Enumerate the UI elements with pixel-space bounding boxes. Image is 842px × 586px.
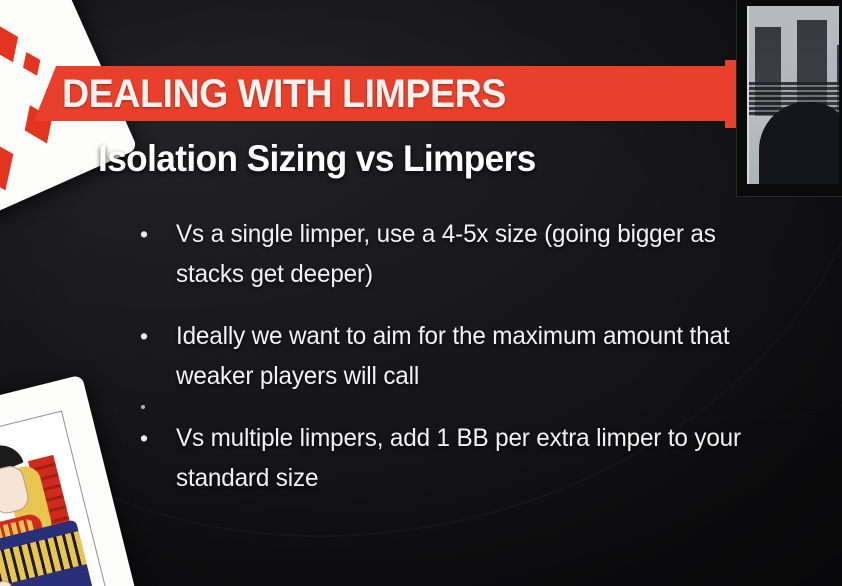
bullet-text: Vs multiple limpers, add 1 BB per extra … [176,418,842,498]
diamond-pip [0,127,26,200]
bullet-point-icon: • [138,316,176,396]
diamond-pip [0,18,27,69]
bullet-list: • Vs a single limper, use a 4-5x size (g… [138,214,842,520]
bullet-point-icon: • [138,418,176,498]
page-title: DEALING WITH LIMPERS [62,70,701,118]
list-item: • Ideally we want to aim for the maximum… [138,316,842,396]
presenter-video-inset[interactable] [737,0,842,196]
slide-subtitle: Isolation Sizing vs Limpers [98,138,536,180]
presentation-slide: J DEALING WITH LIMPERS Isolation Sizing … [0,0,842,586]
list-item: • Vs a single limper, use a 4-5x size (g… [138,214,842,294]
accent-tab [725,60,737,128]
list-item: • Vs multiple limpers, add 1 BB per extr… [138,418,842,498]
bullet-point-icon: • [138,214,176,294]
video-frame [747,6,839,184]
bullet-text: Ideally we want to aim for the maximum a… [176,316,842,396]
diamond-pip [18,48,46,79]
diamond-pip [0,50,2,123]
bullet-text: Vs a single limper, use a 4-5x size (goi… [176,214,842,294]
